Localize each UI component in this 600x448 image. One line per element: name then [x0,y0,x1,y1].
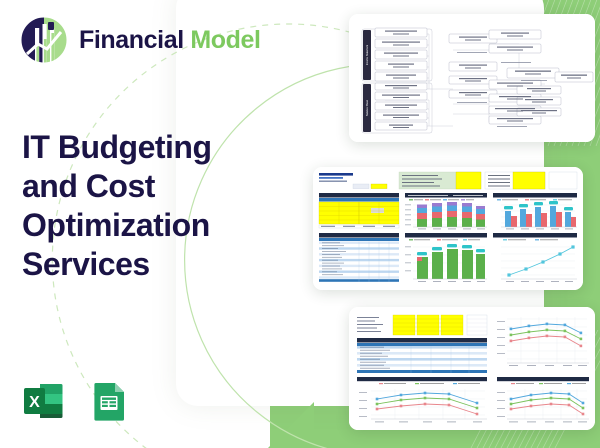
slide-canvas: Financial Model IT Budgeting and Cost Op… [0,0,600,448]
svg-text:Income Statement: Income Statement [366,45,369,66]
app-format-icons: X [20,378,132,424]
brand-wordmark: Financial Model [79,26,261,55]
background-green-triangle [268,402,314,448]
kpi-dashboard-panel[interactable] [313,167,583,290]
microsoft-excel-icon[interactable]: X [20,378,66,424]
financial-reports-panel[interactable] [349,307,595,430]
page-title-line-4: Services [22,245,272,284]
financial-model-circle-chart-logo [18,14,70,66]
svg-text:X: X [29,394,40,411]
reports-canvas [349,307,595,430]
google-sheets-icon[interactable] [86,378,132,424]
flowchart-canvas: Income Statement Balance Sheet [349,14,595,142]
page-title-line-3: Optimization [22,206,272,245]
svg-text:Balance Sheet: Balance Sheet [366,100,369,117]
page-title: IT Budgeting and Cost Optimization Servi… [22,128,272,284]
dashboard-canvas [313,167,583,290]
page-title-line-1: IT Budgeting [22,128,272,167]
dupont-analysis-flowchart-panel[interactable]: Income Statement Balance Sheet [349,14,595,142]
page-title-line-2: and Cost [22,167,272,206]
brand-name-part1: Financial [79,26,184,54]
brand-logo[interactable]: Financial Model [18,14,261,66]
brand-name-part2: Model [190,26,260,54]
